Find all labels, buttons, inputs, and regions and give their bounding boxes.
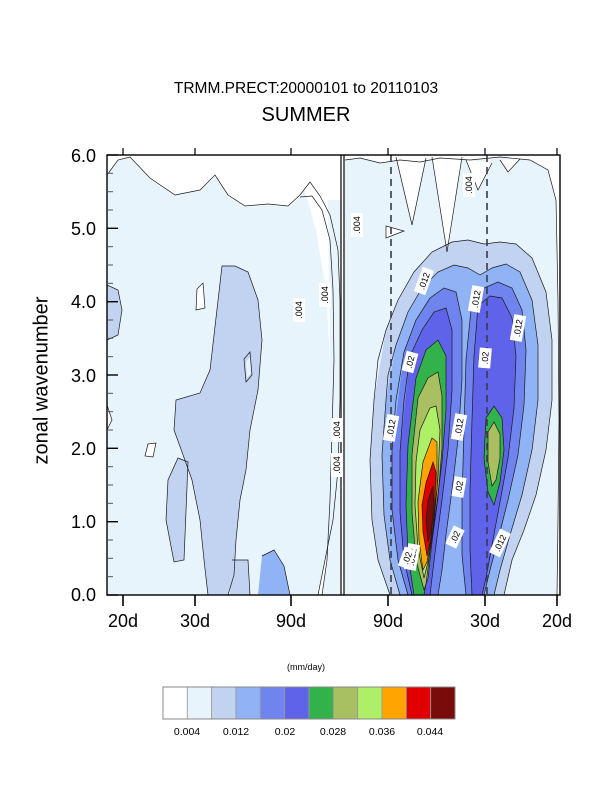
contour-label-02-c: .02 [453, 480, 465, 494]
colorbar-swatches [163, 687, 455, 719]
colorbar-swatch-7[interactable] [333, 687, 357, 719]
colorbar-swatch-2[interactable] [212, 687, 236, 719]
contour-fill-group [107, 155, 560, 595]
colorbar-swatch-6[interactable] [309, 687, 333, 719]
contour-label-004-b: .004 [320, 286, 330, 304]
colorbar-swatch-4[interactable] [260, 687, 284, 719]
colorbar-tick-5: 0.044 [400, 726, 460, 738]
colorbar-units-label: (mm/day) [0, 662, 612, 672]
colorbar-swatch-8[interactable] [358, 687, 382, 719]
contour-label-004-d: .004 [332, 456, 342, 474]
colorbar-swatch-9[interactable] [382, 687, 406, 719]
colorbar-swatch-1[interactable] [187, 687, 211, 719]
colorbar-swatch-11[interactable] [431, 687, 455, 719]
contour-label-004-f: .004 [464, 176, 474, 194]
contour-plot: .004 .004 .004 .004 .004 .004 [0, 0, 612, 792]
colorbar-swatch-5[interactable] [285, 687, 309, 719]
contour-label-004-a: .004 [294, 301, 304, 319]
contour-label-02-b: .02 [480, 351, 491, 364]
colorbar-swatch-3[interactable] [236, 687, 260, 719]
contour-label-004-e: .004 [352, 216, 362, 234]
figure-canvas: TRMM.PRECT:20000101 to 20110103 SUMMER z… [0, 0, 612, 792]
contour-label-004-c: .004 [332, 421, 342, 439]
colorbar-swatch-10[interactable] [406, 687, 430, 719]
colorbar-swatch-0[interactable] [163, 687, 187, 719]
